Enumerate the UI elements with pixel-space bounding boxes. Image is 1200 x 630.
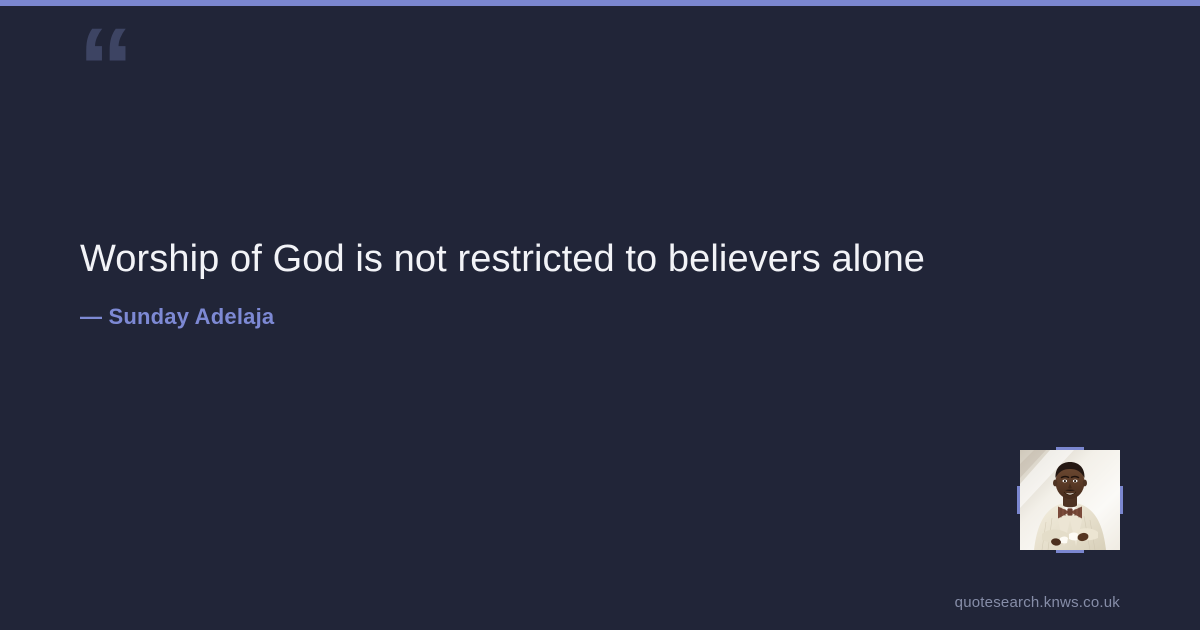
author-portrait <box>1020 450 1120 550</box>
quote-attribution: — Sunday Adelaja <box>80 304 950 330</box>
portrait-handle-right <box>1120 486 1123 514</box>
opening-quote-icon: “ <box>78 12 132 124</box>
quote-card: “ Worship of God is not restricted to be… <box>0 6 1200 630</box>
quote-text: Worship of God is not restricted to beli… <box>80 238 950 280</box>
portrait-handle-top <box>1056 447 1084 450</box>
author-photo <box>1020 450 1120 550</box>
quote-block: Worship of God is not restricted to beli… <box>80 238 950 330</box>
portrait-handle-bottom <box>1056 550 1084 553</box>
author-photo-image <box>1020 450 1120 550</box>
portrait-handle-left <box>1017 486 1020 514</box>
watermark-url: quotesearch.knws.co.uk <box>955 594 1120 611</box>
